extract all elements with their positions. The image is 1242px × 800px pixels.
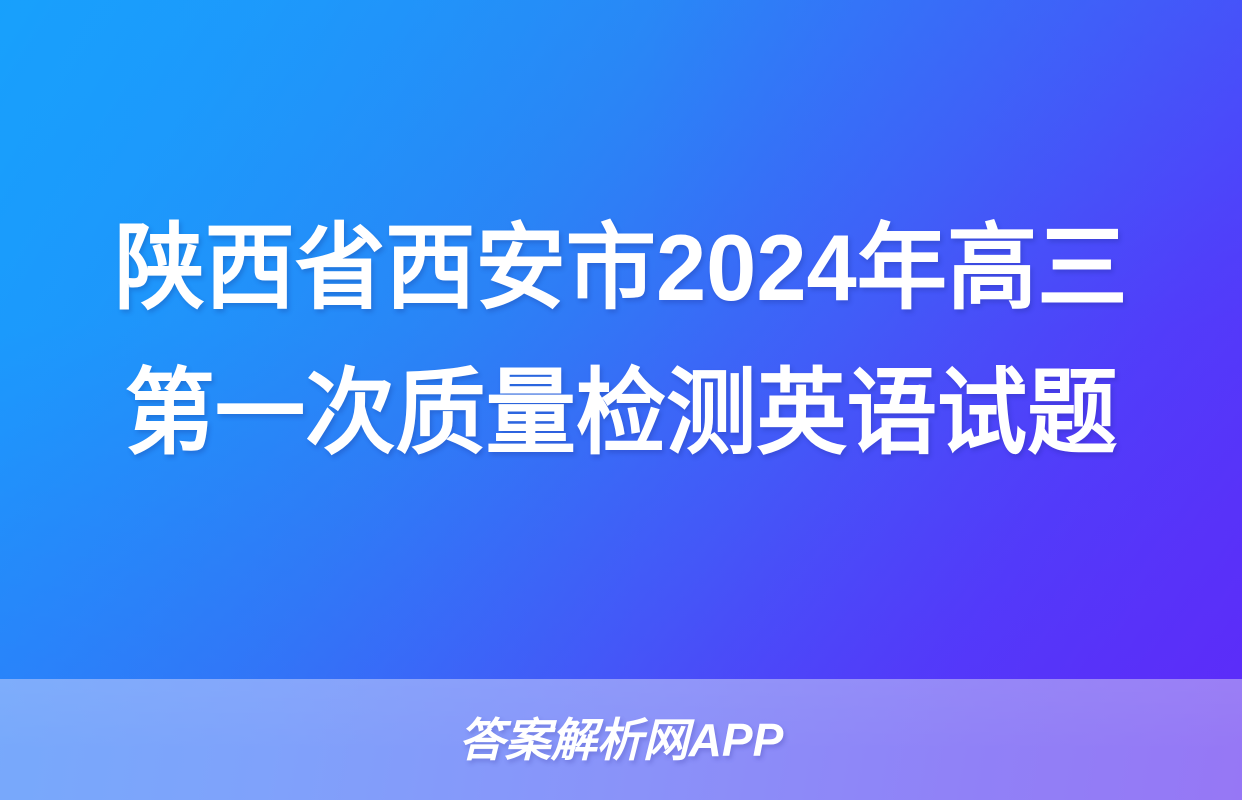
footer-watermark-band: 答案解析网APP [0,679,1242,800]
title-container: 陕西省西安市2024年高三第一次质量检测英语试题 [81,195,1161,485]
exam-title-card: 陕西省西安市2024年高三第一次质量检测英语试题 答案解析网APP [0,0,1242,800]
site-watermark: 答案解析网APP [459,717,784,763]
exam-title: 陕西省西安市2024年高三第一次质量检测英语试题 [114,195,1128,485]
hero-panel: 陕西省西安市2024年高三第一次质量检测英语试题 [0,0,1242,679]
